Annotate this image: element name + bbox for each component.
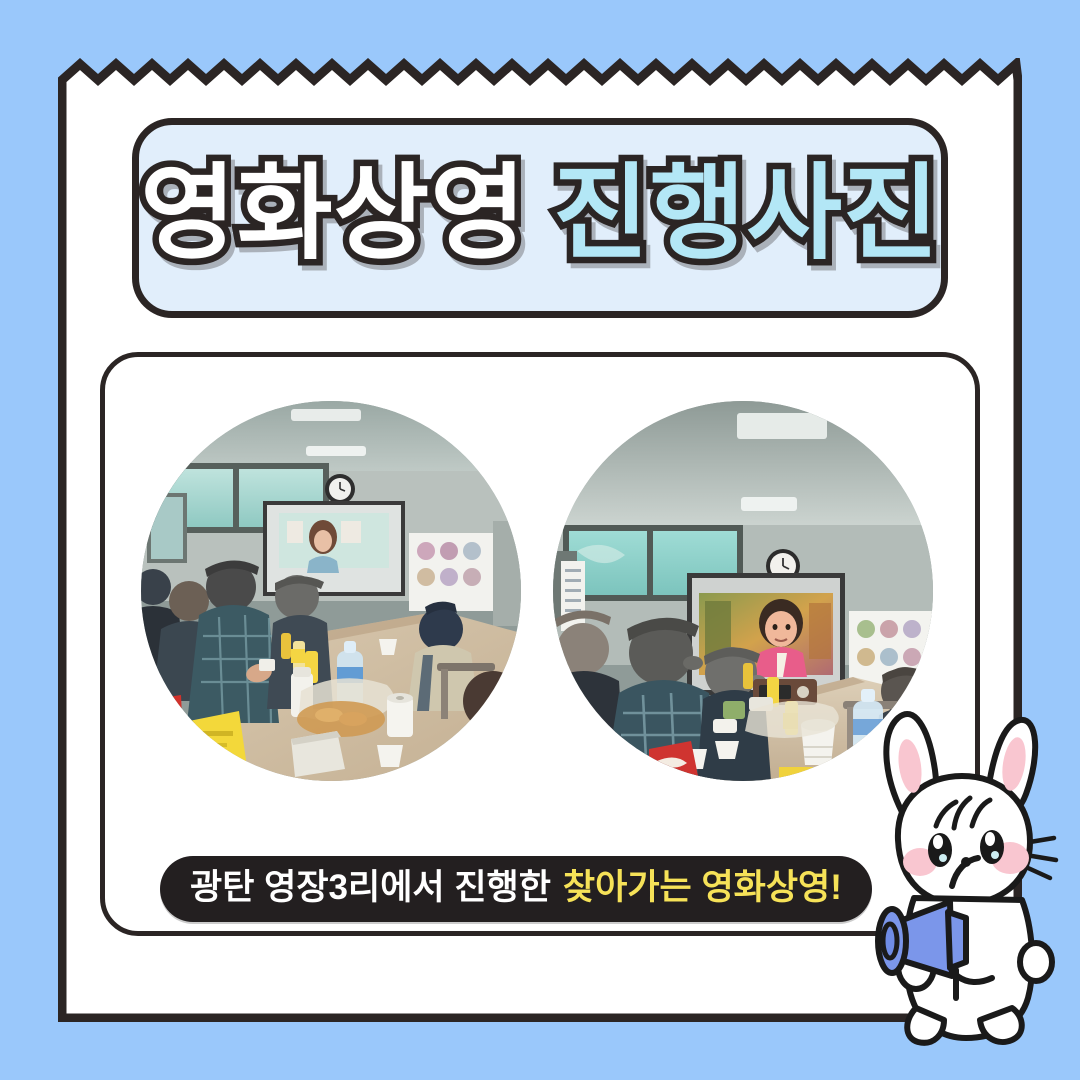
title-part-two: 진행사진	[553, 156, 940, 272]
caption-text-white: 광탄 영장3리에서 진행한	[190, 868, 551, 907]
caption-text: 광탄 영장3리에서 진행한찾아가는 영화상영!	[190, 870, 842, 905]
photo-left-illustration	[141, 401, 521, 781]
rabbit-arm-right	[1020, 943, 1052, 981]
caption-text-yellow: 찾아가는 영화상영!	[563, 868, 842, 907]
caption-pill: 광탄 영장3리에서 진행한찾아가는 영화상영!	[160, 856, 872, 922]
page-title: 영화상영진행사진	[140, 162, 939, 266]
photo-left	[141, 401, 521, 781]
rabbit-mascot	[840, 690, 1080, 1060]
title-banner: 영화상영진행사진	[132, 118, 948, 318]
rabbit-megaphone-illustration	[840, 690, 1080, 1060]
rabbit-head	[898, 776, 1030, 904]
title-part-one: 영화상영	[140, 156, 527, 272]
